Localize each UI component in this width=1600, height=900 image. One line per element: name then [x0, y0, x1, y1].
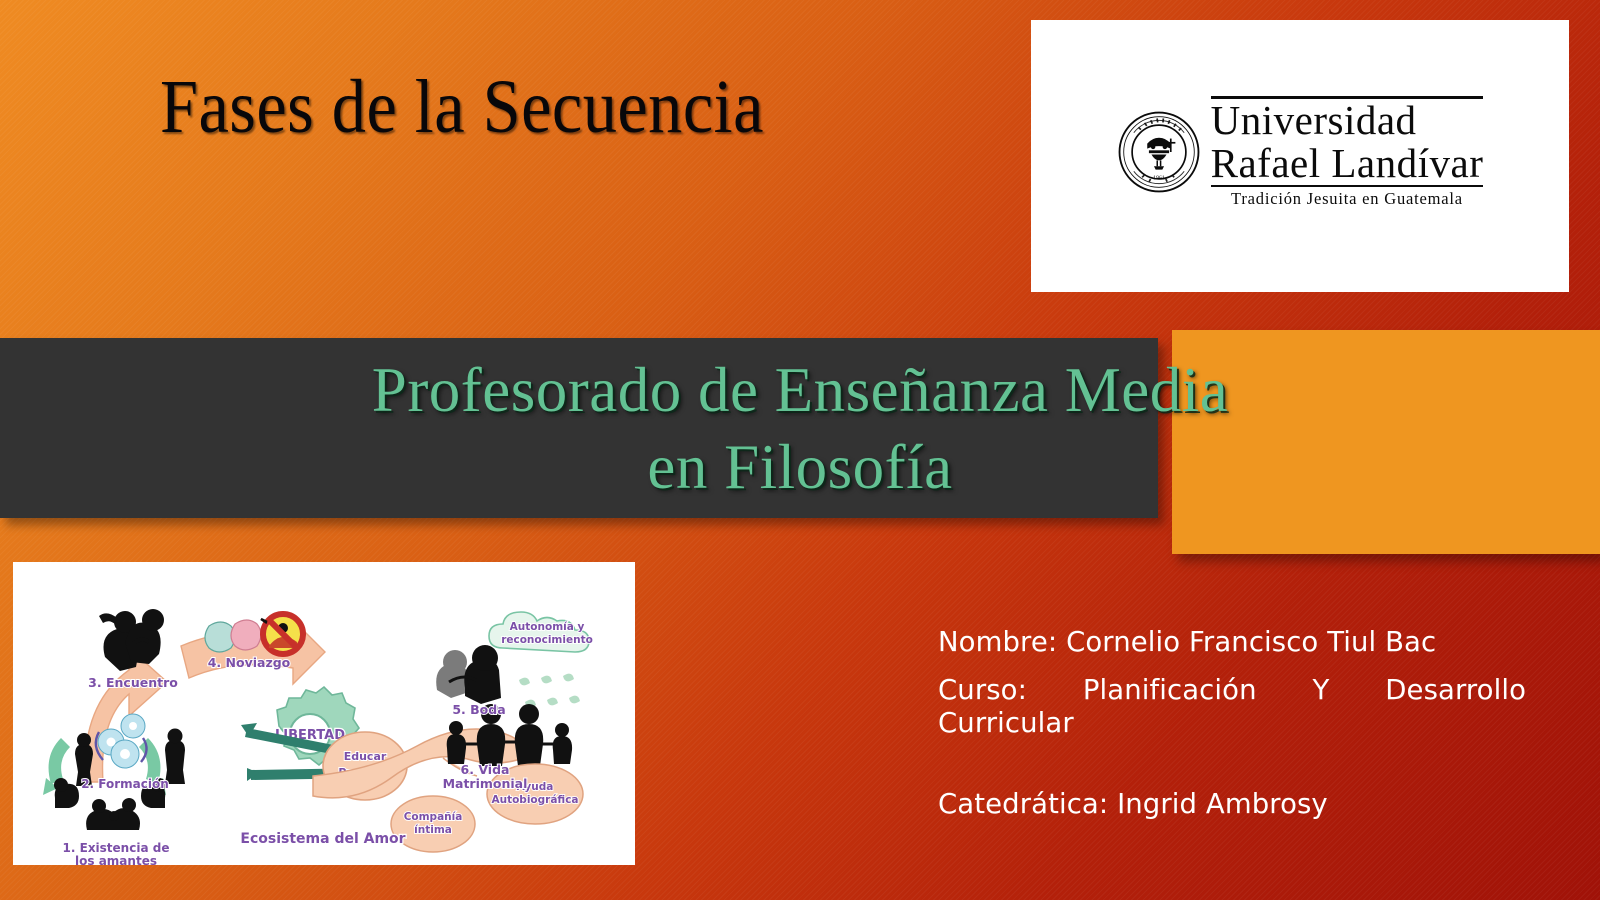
compania-label-line1: Compañía [404, 811, 463, 823]
university-seal-icon: 1961 [1117, 110, 1201, 194]
university-wordmark: Universidad Rafael Landívar Tradición Je… [1211, 96, 1484, 209]
step6-label-line1: 6. Vida [461, 762, 510, 777]
ayuda-label-line2: Autobiográfica [491, 794, 578, 806]
university-name-line2: Rafael Landívar [1211, 142, 1484, 185]
orange-accent-block [1172, 330, 1600, 554]
university-logo: 1961 Universidad Rafael Landívar Tradici… [1117, 96, 1484, 209]
step3-label: 3. Encuentro [88, 675, 178, 690]
dark-banner [0, 338, 1158, 518]
diagram-image-panel: LIBERTAD Educar Procrear [13, 562, 635, 865]
page-title: Fases de la Secuencia [160, 68, 880, 148]
autonomia-label-line2: reconocimiento [501, 634, 593, 646]
seal-year-text: 1961 [1153, 176, 1165, 182]
university-name-line1: Universidad [1211, 99, 1484, 142]
educar-label: Educar [344, 750, 387, 763]
step1-label-line2: los amantes [75, 854, 157, 865]
autonomia-label-line1: Autonomía y [510, 621, 585, 633]
prohibition-sign-icon [261, 614, 303, 654]
step2-label: 2. Formación [81, 777, 169, 791]
ecosistema-caption: Ecosistema del Amor [240, 831, 405, 847]
ecosistema-del-amor-diagram: LIBERTAD Educar Procrear [13, 562, 635, 865]
professor-name-line: Catedrática: Ingrid Ambrosy [938, 788, 1526, 822]
step4-label: 4. Noviazgo [208, 655, 291, 670]
student-name-line: Nombre: Cornelio Francisco Tiul Bac [938, 626, 1526, 660]
university-logo-panel: 1961 Universidad Rafael Landívar Tradici… [1031, 20, 1569, 292]
university-tagline: Tradición Jesuita en Guatemala [1211, 187, 1484, 208]
compania-label-line2: íntima [414, 824, 452, 836]
step6-label-line2: Matrimonial [443, 776, 528, 791]
author-info-block: Nombre: Cornelio Francisco Tiul Bac Curs… [938, 626, 1526, 822]
presentation-slide: Fases de la Secuencia [0, 0, 1600, 900]
step5-label: 5. Boda [452, 702, 505, 717]
course-name-line: Curso: Planificación Y Desarrollo Curric… [938, 674, 1526, 775]
step1-label-line1: 1. Existencia de [63, 841, 170, 855]
